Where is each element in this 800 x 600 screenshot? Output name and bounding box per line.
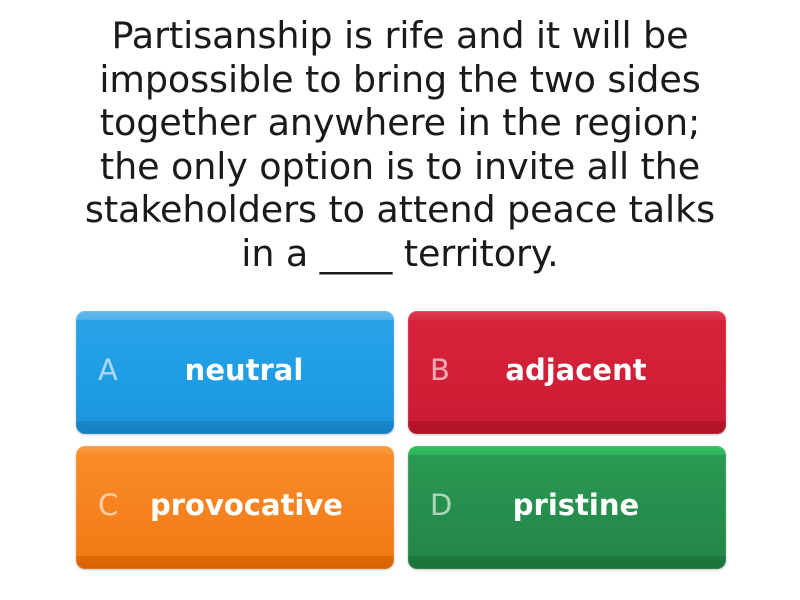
answer-content: A neutral xyxy=(76,353,394,393)
answer-letter-d: D xyxy=(430,488,482,522)
answer-label-b: adjacent xyxy=(482,353,704,387)
answer-option-c[interactable]: C provocative xyxy=(76,446,394,569)
answer-label-d: pristine xyxy=(482,488,704,522)
quiz-screen: Partisanship is rife and it will be impo… xyxy=(0,0,800,600)
answer-options-grid: A neutral B adjacent C provocative xyxy=(76,311,726,569)
answer-content: B adjacent xyxy=(408,353,726,393)
answer-option-a[interactable]: A neutral xyxy=(76,311,394,434)
answer-content: C provocative xyxy=(76,488,394,528)
answer-letter-c: C xyxy=(98,488,150,522)
answer-option-d[interactable]: D pristine xyxy=(408,446,726,569)
answer-label-c: provocative xyxy=(150,488,377,522)
question-area: Partisanship is rife and it will be impo… xyxy=(0,0,800,292)
question-text: Partisanship is rife and it will be impo… xyxy=(80,14,720,275)
answer-letter-b: B xyxy=(430,353,482,387)
answer-option-b[interactable]: B adjacent xyxy=(408,311,726,434)
answer-letter-a: A xyxy=(98,353,150,387)
answer-content: D pristine xyxy=(408,488,726,528)
answer-label-a: neutral xyxy=(150,353,372,387)
